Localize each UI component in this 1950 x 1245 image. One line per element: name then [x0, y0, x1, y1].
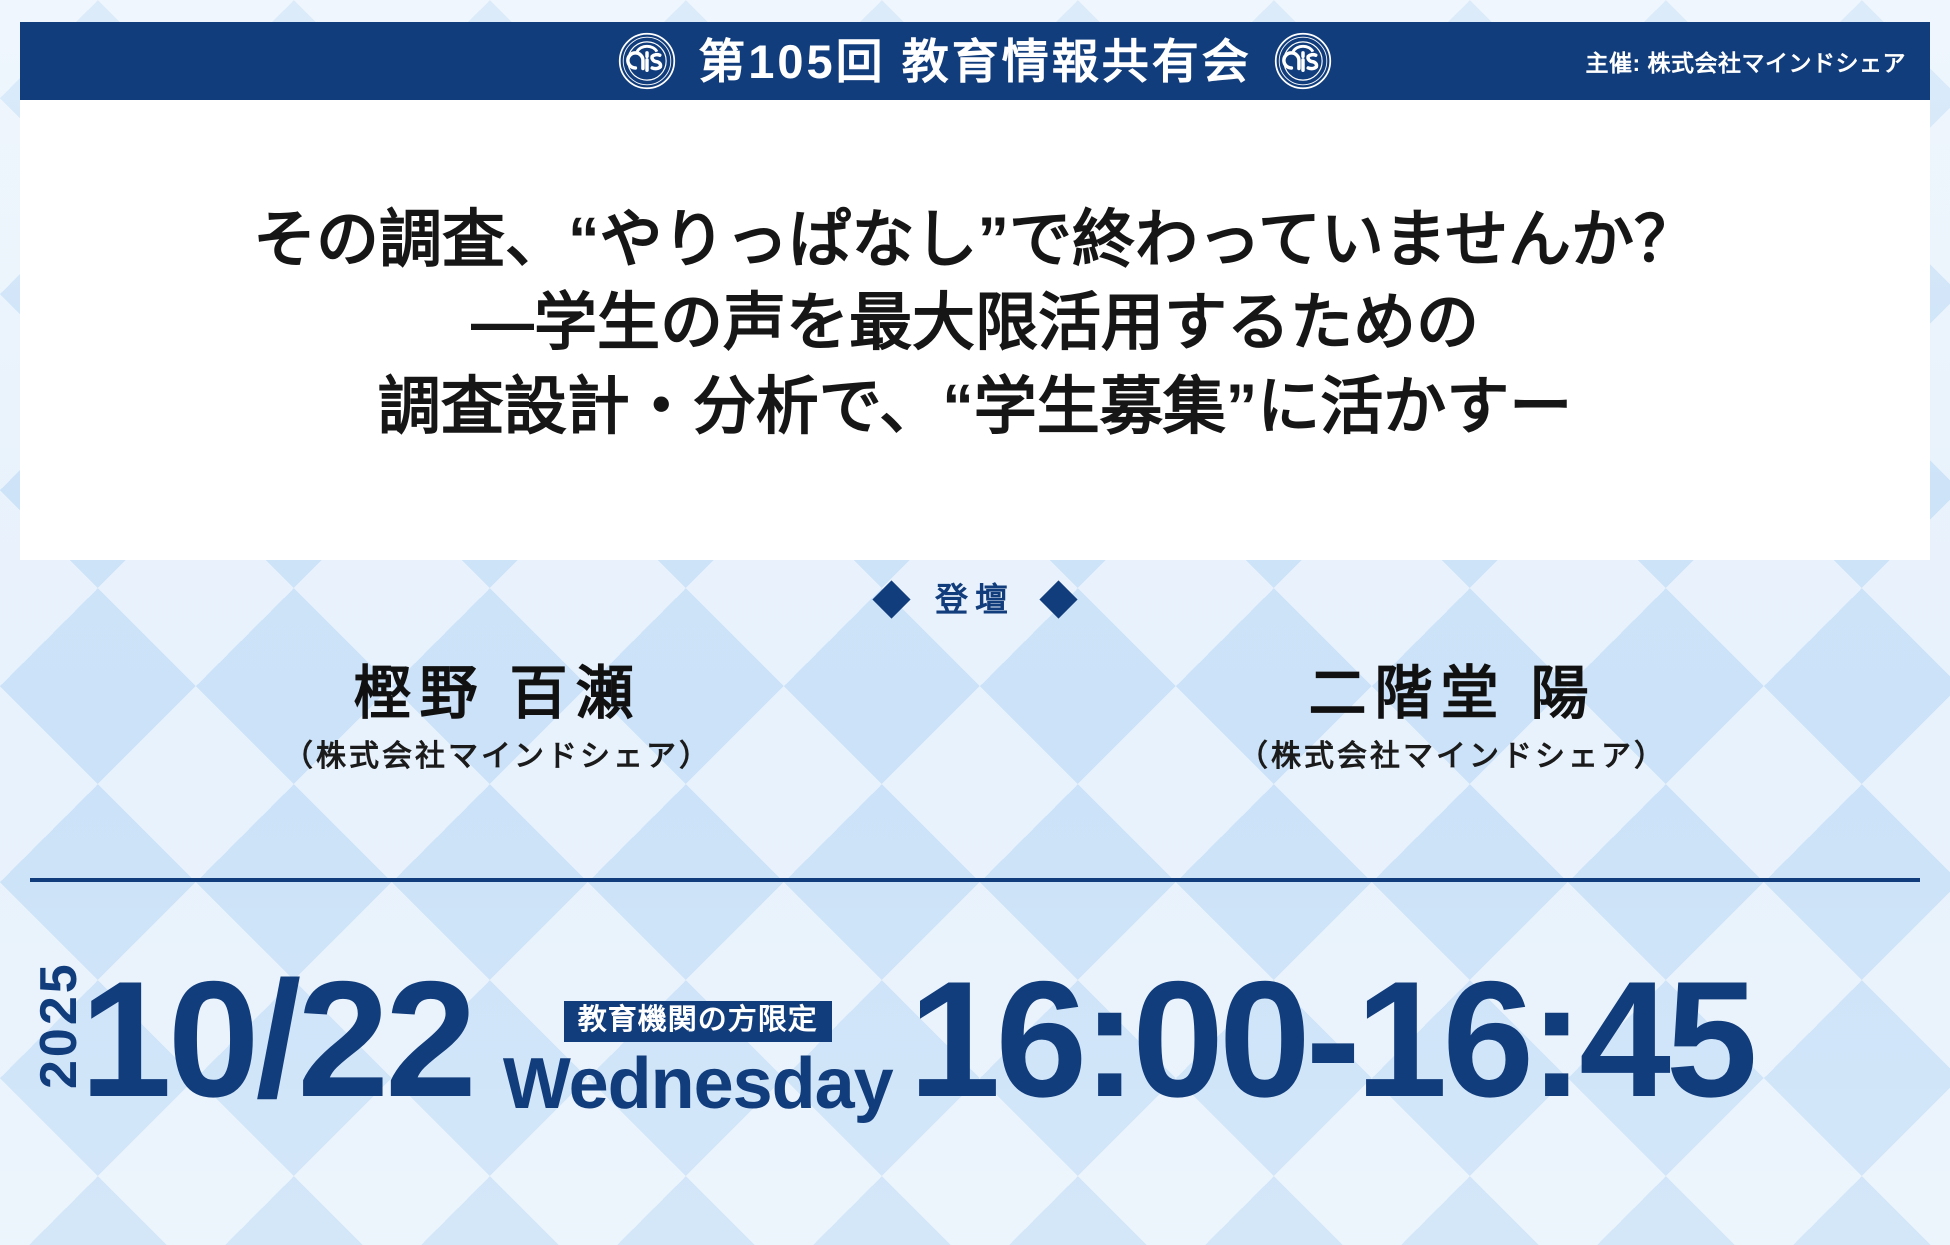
speaker-org: （株式会社マインドシェア） — [20, 739, 975, 775]
limited-audience-badge: 教育機関の方限定 — [564, 1001, 832, 1042]
diamond-icon-left — [872, 580, 910, 618]
speaker-org: （株式会社マインドシェア） — [975, 739, 1930, 775]
speaker-card-2: 二階堂 陽 （株式会社マインドシェア） — [975, 660, 1930, 775]
eis-circular-logo-icon-left — [618, 32, 676, 90]
speaker-name: 樫野 百瀬 — [20, 660, 975, 727]
event-year: 2025 — [33, 1027, 85, 1089]
title-panel: その調査、“やりっぱなし”で終わっていませんか？ ―学生の声を最大限活用するため… — [20, 100, 1930, 560]
header-bar: 第105回 教育情報共有会 主催: 株式会社マインドシェア — [20, 22, 1930, 100]
eis-circular-logo-icon-right — [1274, 32, 1332, 90]
speaker-name: 二階堂 陽 — [975, 660, 1930, 727]
section-divider — [30, 878, 1920, 882]
diamond-icon-right — [1039, 580, 1077, 618]
header-title: 第105回 教育情報共有会 — [698, 38, 1251, 85]
header-center-group: 第105回 教育情報共有会 — [618, 32, 1331, 90]
datetime-strip: 2025 10/22 教育機関の方限定 Wednesday 16:00-16:4… — [28, 918, 1930, 1138]
title-line-2: ―学生の声を最大限活用するための — [471, 282, 1479, 365]
title-line-1: その調査、“やりっぱなし”で終わっていませんか？ — [253, 199, 1697, 282]
event-weekday: Wednesday — [503, 1048, 893, 1120]
host-label: 主催: 株式会社マインドシェア — [1585, 44, 1906, 78]
title-line-3: 調査設計・分析で、“学生募集”に活かすー — [378, 366, 1572, 449]
weekday-group: 教育機関の方限定 Wednesday — [503, 1001, 893, 1120]
speakers-row: 樫野 百瀬 （株式会社マインドシェア） 二階堂 陽 （株式会社マインドシェア） — [20, 660, 1930, 775]
speakers-heading: 登壇 — [0, 583, 1950, 616]
event-date: 10/22 — [80, 957, 473, 1122]
speakers-heading-label: 登壇 — [935, 583, 1015, 616]
event-time-range: 16:00-16:45 — [909, 957, 1753, 1122]
speaker-card-1: 樫野 百瀬 （株式会社マインドシェア） — [20, 660, 975, 775]
webinar-poster: 第105回 教育情報共有会 主催: 株式会社マインドシェア その調査、“やりっぱ… — [0, 0, 1950, 1245]
